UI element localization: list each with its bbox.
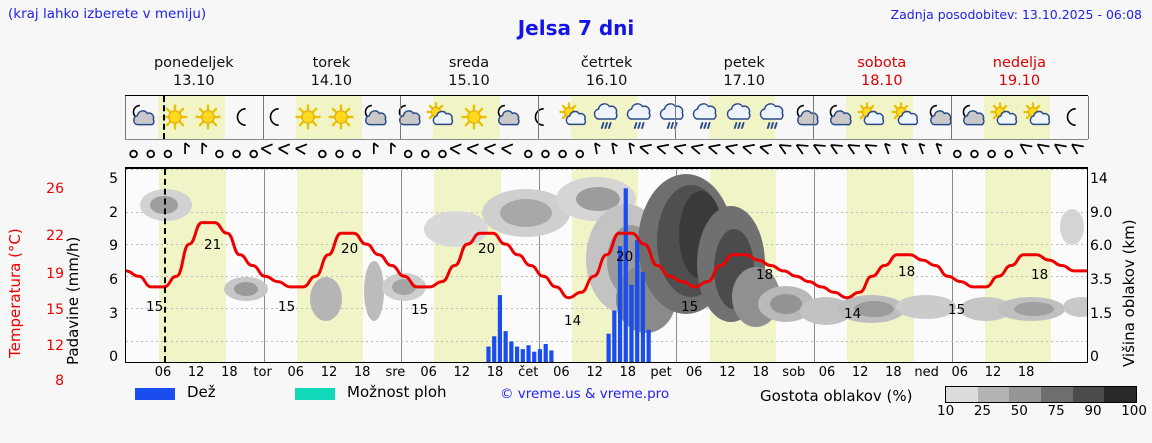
day-separator [1088,96,1089,139]
weather-icon-band [125,95,1088,140]
cloud-height-axis-title: Višina oblakov (km) [1120,172,1138,367]
cloud-scale-step-1 [978,387,1010,402]
cloud-scale-gradient [945,386,1137,403]
last-update-stamp: Zadnja posodobitev: 13.10.2025 - 06:08 [891,7,1142,22]
sun-cloud-icon [856,101,889,135]
temperature-value-label: 20 [341,241,358,257]
day-date: 13.10 [125,72,263,90]
showers-legend-label: Možnost ploh [347,383,447,401]
temperature-value-label: 14 [844,306,861,322]
temperature-tick: 22 [30,228,64,244]
cloud-height-tick: 6.0 [1090,238,1122,254]
temperature-curve-layer [126,169,1087,362]
cloud-height-tick: 9.0 [1090,205,1122,221]
cloud-rain-icon [757,101,790,135]
cloud-rain-icon [591,101,624,135]
precipitation-tick: 9 [92,238,118,254]
temperature-value-label: 21 [204,237,221,253]
precipitation-tick: 2 [92,205,118,221]
precipitation-tick: 6 [92,272,118,288]
current-time-marker [163,96,165,139]
day-date: 18.10 [813,72,951,90]
cloud-height-tick: 14 [1090,171,1122,187]
sun-cloud-icon [989,101,1022,135]
moon-icon [226,101,259,135]
sun-cloud-icon [558,101,591,135]
rain-legend-label: Dež [187,383,216,401]
day-date: 15.10 [400,72,538,90]
cloud-scale-step-5 [1104,387,1136,402]
legend: Dež Možnost ploh © vreme.us & vreme.pro … [125,386,1145,426]
temperature-value-label: 20 [616,249,633,265]
sun-icon [292,101,325,135]
day-header-row: ponedeljek13.10torek14.10sreda15.10četrt… [125,54,1088,94]
sun-cloud-icon [425,101,458,135]
precipitation-tick: 0 [92,349,118,365]
day-name: torek [313,55,351,71]
cloud-rain-icon [657,101,690,135]
day-header-3: četrtek16.10 [538,54,676,90]
moon-icon [259,101,292,135]
day-separator [951,96,952,139]
day-date: 14.10 [263,72,401,90]
moon-cloud-icon [358,101,391,135]
day-header-1: torek14.10 [263,54,401,90]
temperature-value-label: 15 [278,299,295,315]
precipitation-axis-title: Padavine (mm/h) [64,170,82,365]
current-time-marker [164,169,166,362]
temperature-axis-title: Temperatura (°C) [6,178,24,358]
day-date: 16.10 [538,72,676,90]
day-name: četrtek [581,55,633,71]
moon-icon [524,101,557,135]
cloud-scale-label: Gostota oblakov (%) [760,387,913,405]
day-header-4: petek17.10 [675,54,813,90]
precipitation-tick: 5 [92,171,118,187]
moon-cloud-icon [956,101,989,135]
temperature-value-label: 18 [1031,267,1048,283]
cloud-rain-icon [690,101,723,135]
cloud-scale-value-3: 75 [1048,403,1065,419]
day-header-5: sobota18.10 [813,54,951,90]
temperature-tick: 12 [30,338,64,354]
rain-legend-swatch [135,388,175,400]
day-date: 19.10 [951,72,1089,90]
showers-legend-swatch [295,388,335,400]
day-separator [400,96,401,139]
day-name: sobota [857,55,906,71]
day-separator [125,96,126,139]
cloud-scale-value-1: 25 [974,403,991,419]
wind-barb-band [125,140,1088,168]
moon-cloud-icon [491,101,524,135]
sun-icon [458,101,491,135]
temperature-value-label: 15 [411,302,428,318]
day-separator [538,96,539,139]
cloud-height-tick: 3.5 [1090,272,1122,288]
day-date: 17.10 [675,72,813,90]
cloud-scale-values: 1025507590100 [937,403,1147,419]
cloud-scale-step-4 [1073,387,1105,402]
temperature-value-label: 18 [898,264,915,280]
cloud-scale-value-0: 10 [937,403,954,419]
cloud-scale-value-4: 90 [1084,403,1101,419]
temperature-value-label: 15 [681,299,698,315]
moon-cloud-icon [790,101,823,135]
day-name: ponedeljek [154,55,234,71]
sun-cloud-icon [890,101,923,135]
cloud-height-tick: 1.5 [1090,306,1122,322]
day-name: nedelja [993,55,1046,71]
cloud-scale-step-0 [946,387,978,402]
day-separator [813,96,814,139]
moon-cloud-icon [823,101,856,135]
cloud-rain-icon [724,101,757,135]
cloud-scale-value-5: 100 [1121,403,1147,419]
day-header-0: ponedeljek13.10 [125,54,263,90]
sun-icon [325,101,358,135]
temperature-tick: 15 [30,302,64,318]
copyright-link[interactable]: © vreme.us & vreme.pro [500,386,669,402]
day-name: petek [724,55,765,71]
day-name: sreda [449,55,489,71]
temperature-value-label: 20 [478,241,495,257]
cloud-height-tick: 0 [1090,349,1122,365]
meteogram-plot: 1521152015201420151814181518 [125,168,1088,363]
moon-icon [1056,101,1089,135]
temperature-value-label: 14 [564,313,581,329]
day-header-6: nedelja19.10 [951,54,1089,90]
day-separator [675,96,676,139]
precipitation-tick: 3 [92,306,118,322]
moon-cloud-icon [126,101,159,135]
temperature-tick: 8 [30,373,64,389]
day-header-2: sreda15.10 [400,54,538,90]
temperature-tick: 19 [30,266,64,282]
cloud-rain-icon [624,101,657,135]
temperature-tick: 26 [30,181,64,197]
sun-icon [192,101,225,135]
wind-barbs-svg [125,140,1088,167]
day-separator [263,96,264,139]
x-tick-26: 18 [1006,365,1046,380]
cloud-scale-step-2 [1009,387,1041,402]
moon-cloud-icon [392,101,425,135]
temperature-value-label: 15 [948,302,965,318]
cloud-scale-step-3 [1041,387,1073,402]
sun-cloud-icon [1022,101,1055,135]
temperature-value-label: 15 [146,299,163,315]
temperature-value-label: 18 [756,267,773,283]
cloud-scale-value-2: 50 [1011,403,1028,419]
